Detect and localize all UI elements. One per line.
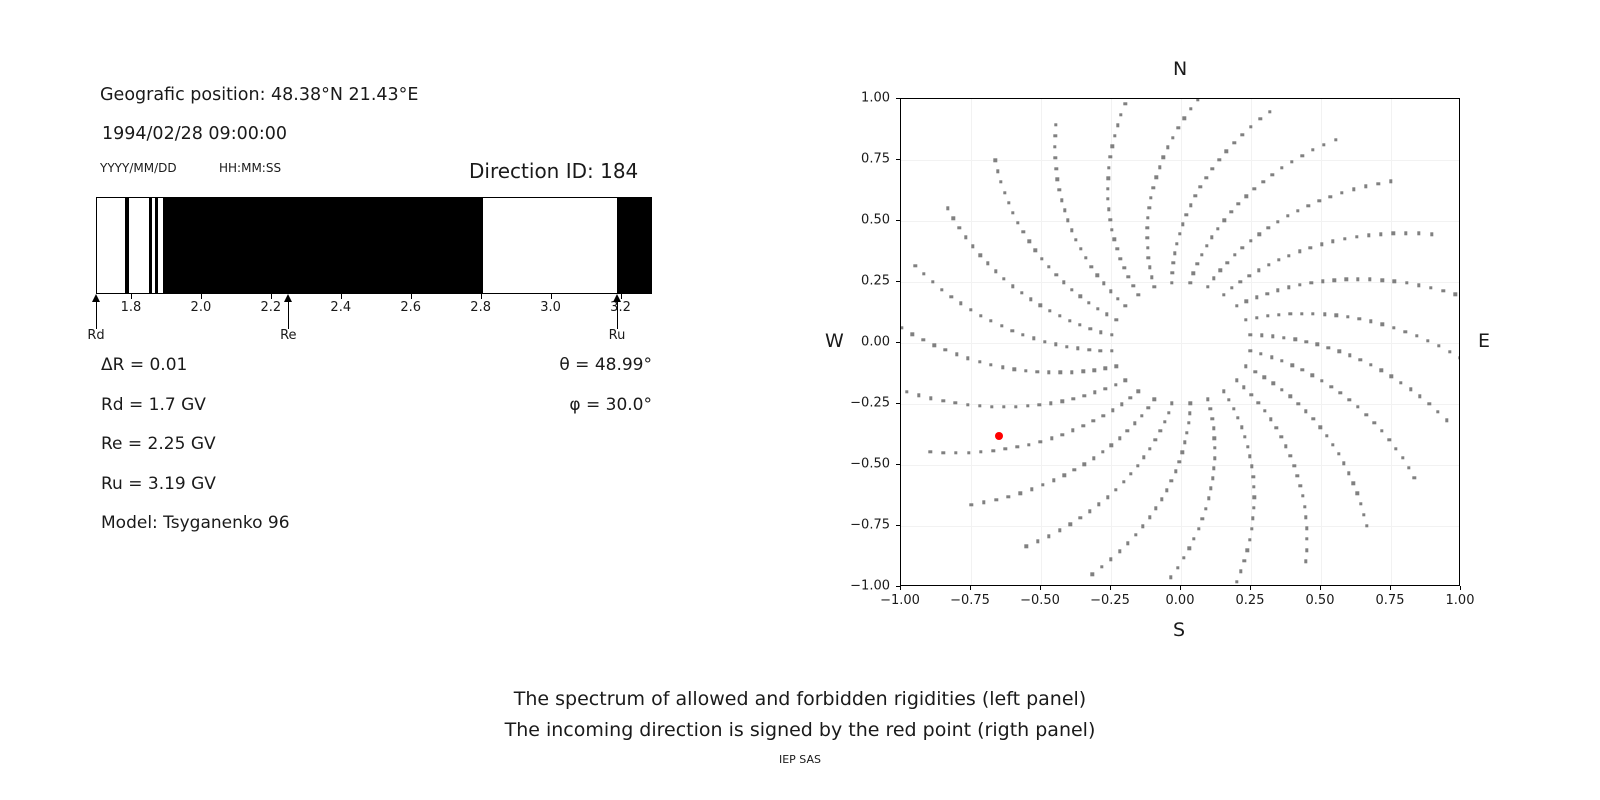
direction-grid-dot bbox=[1113, 238, 1116, 241]
direction-grid-dot bbox=[1058, 314, 1061, 317]
direction-grid-dot bbox=[1060, 399, 1063, 402]
direction-grid-dot bbox=[1177, 126, 1180, 129]
direction-grid-dot bbox=[1040, 257, 1043, 260]
direction-grid-dot bbox=[1348, 354, 1351, 357]
direction-grid-dot bbox=[1002, 277, 1005, 280]
direction-grid-dot bbox=[1318, 426, 1321, 429]
direction-grid-dot bbox=[955, 353, 958, 356]
arrow-shaft bbox=[288, 297, 289, 329]
direction-grid-dot bbox=[1154, 438, 1157, 441]
direction-grid-dot bbox=[1223, 219, 1226, 222]
direction-grid-dot bbox=[1362, 513, 1365, 516]
direction-grid-dot bbox=[1251, 517, 1254, 520]
direction-grid-dot bbox=[1140, 414, 1143, 417]
direction-grid-dot bbox=[1194, 194, 1197, 197]
direction-grid-dot bbox=[1404, 232, 1407, 235]
direction-grid-dot bbox=[1061, 433, 1064, 436]
direction-grid-dot bbox=[979, 314, 982, 317]
direction-grid-dot bbox=[1230, 286, 1233, 289]
direction-grid-dot bbox=[1188, 412, 1191, 415]
direction-grid-dot bbox=[1392, 326, 1395, 329]
y-axis-tick bbox=[896, 159, 900, 160]
spectrum-axis-tick-label: 2.2 bbox=[260, 300, 281, 315]
direction-grid-dot bbox=[1309, 246, 1312, 249]
direction-grid-dot bbox=[1241, 246, 1244, 249]
direction-grid-dot bbox=[1393, 280, 1396, 283]
direction-grid-dot bbox=[1249, 333, 1252, 336]
direction-grid-dot bbox=[1181, 223, 1184, 226]
direction-grid-dot bbox=[1089, 327, 1092, 330]
direction-grid-dot bbox=[1316, 343, 1319, 346]
direction-grid-dot bbox=[1090, 265, 1093, 268]
direction-grid-dot bbox=[1120, 403, 1123, 406]
direction-grid-dot bbox=[1116, 123, 1119, 126]
direction-grid-dot bbox=[1292, 464, 1295, 467]
parameter-row: Ru = 3.19 GV bbox=[101, 474, 216, 494]
direction-grid-dot bbox=[1054, 273, 1057, 276]
direction-grid-dot bbox=[1107, 166, 1110, 169]
direction-grid-dot bbox=[1265, 292, 1268, 295]
direction-grid-dot bbox=[1119, 257, 1122, 260]
direction-grid-dot bbox=[1239, 280, 1242, 283]
direction-grid-dot bbox=[1093, 368, 1096, 371]
direction-grid-dot bbox=[1107, 208, 1110, 211]
x-axis-tick bbox=[900, 586, 901, 590]
direction-grid-dot bbox=[1272, 382, 1275, 385]
direction-grid-dot bbox=[1083, 463, 1086, 466]
direction-grid-dot bbox=[1246, 445, 1249, 448]
x-axis-tick-label: 0.75 bbox=[1376, 593, 1405, 608]
direction-grid-dot bbox=[1054, 343, 1057, 346]
direction-grid-dot bbox=[1367, 234, 1370, 237]
compass-label-north: N bbox=[1173, 58, 1187, 80]
direction-grid-dot bbox=[1004, 447, 1007, 450]
direction-grid-dot bbox=[1417, 232, 1420, 235]
direction-grid-dot bbox=[1020, 291, 1023, 294]
direction-grid-dot bbox=[1252, 496, 1255, 499]
direction-grid-dot bbox=[1070, 370, 1073, 373]
spectrum-axis-tick-label: 3.2 bbox=[610, 300, 631, 315]
direction-grid-dot bbox=[1118, 550, 1121, 553]
direction-grid-dot bbox=[1137, 293, 1140, 296]
direction-grid-dot bbox=[1321, 280, 1324, 283]
incoming-direction-panel: N S W E −1.00−0.75−0.50−0.250.000.250.50… bbox=[800, 0, 1600, 660]
direction-grid-dot bbox=[1113, 134, 1116, 137]
direction-grid-dot bbox=[921, 338, 924, 341]
direction-grid-dot bbox=[1241, 133, 1244, 136]
direction-grid-dot bbox=[1259, 352, 1262, 355]
gridline-vertical bbox=[1251, 99, 1252, 585]
direction-grid-dot bbox=[1136, 464, 1139, 467]
direction-grid-dot bbox=[1242, 386, 1245, 389]
direction-grid-dot bbox=[1368, 278, 1371, 281]
direction-grid-dot bbox=[1305, 340, 1308, 343]
direction-grid-dot bbox=[1301, 368, 1304, 371]
direction-grid-dot bbox=[1052, 479, 1055, 482]
direction-grid-dot bbox=[1141, 525, 1144, 528]
direction-grid-dot bbox=[1050, 437, 1053, 440]
direction-grid-dot bbox=[1150, 275, 1153, 278]
direction-grid-dot bbox=[1167, 411, 1170, 414]
direction-grid-dot bbox=[914, 264, 917, 267]
direction-grid-dot bbox=[1284, 445, 1287, 448]
direction-grid-dot bbox=[994, 270, 997, 273]
direction-grid-dot bbox=[1160, 498, 1163, 501]
direction-grid-dot bbox=[1280, 435, 1283, 438]
x-axis-tick-label: −0.25 bbox=[1090, 593, 1130, 608]
direction-grid-dot bbox=[1084, 256, 1087, 259]
direction-grid-dot bbox=[1101, 414, 1104, 417]
direction-grid-dot bbox=[1358, 317, 1361, 320]
spectrum-axis-tick-label: 2.6 bbox=[400, 300, 421, 315]
gridline-horizontal bbox=[901, 282, 1459, 283]
y-axis-tick-label: −0.50 bbox=[838, 457, 890, 472]
direction-grid-dot bbox=[1212, 466, 1215, 469]
direction-grid-dot bbox=[989, 319, 992, 322]
direction-grid-dot bbox=[1110, 228, 1113, 231]
direction-grid-dot bbox=[1059, 371, 1062, 374]
direction-grid-dot bbox=[1034, 248, 1037, 251]
direction-grid-dot bbox=[1310, 281, 1313, 284]
direction-grid-dot bbox=[1261, 180, 1264, 183]
direction-grid-dot bbox=[1233, 253, 1236, 256]
direction-grid-dot bbox=[950, 295, 953, 298]
direction-grid-dot bbox=[1047, 265, 1050, 268]
spectrum-axis-tick bbox=[271, 294, 272, 299]
y-axis-tick-label: −0.25 bbox=[838, 396, 890, 411]
spectrum-bar bbox=[96, 197, 652, 294]
direction-grid-dot bbox=[1282, 336, 1285, 339]
direction-grid-dot bbox=[1205, 244, 1208, 247]
direction-grid-dot bbox=[1054, 167, 1057, 170]
direction-grid-dot bbox=[1079, 247, 1082, 250]
direction-grid-dot bbox=[1030, 488, 1033, 491]
direction-grid-dot bbox=[1027, 443, 1030, 446]
direction-grid-dot bbox=[1290, 160, 1293, 163]
direction-grid-dot bbox=[1126, 429, 1129, 432]
direction-grid-dot bbox=[1380, 429, 1383, 432]
direction-grid-dot bbox=[1106, 187, 1109, 190]
direction-grid-dot bbox=[1365, 413, 1368, 416]
direction-grid-dot bbox=[954, 451, 957, 454]
direction-grid-dot bbox=[1174, 470, 1177, 473]
direction-grid-dot bbox=[1235, 580, 1238, 583]
direction-grid-dot bbox=[1236, 416, 1239, 419]
direction-grid-dot bbox=[952, 217, 955, 220]
direction-grid-dot bbox=[1183, 117, 1186, 120]
direction-grid-dot bbox=[967, 451, 970, 454]
spectrum-axis-tick bbox=[481, 294, 482, 299]
direction-grid-dot bbox=[999, 180, 1002, 183]
y-axis-tick-label: 0.00 bbox=[838, 335, 890, 350]
direction-grid-dot bbox=[966, 403, 969, 406]
direction-grid-dot bbox=[1252, 485, 1255, 488]
direction-grid-dot bbox=[1258, 232, 1261, 235]
direction-grid-dot bbox=[1459, 356, 1460, 359]
direction-grid-dot bbox=[1048, 309, 1051, 312]
direction-grid-dot bbox=[1016, 445, 1019, 448]
direction-grid-dot bbox=[1047, 534, 1050, 537]
direction-grid-dot bbox=[1356, 278, 1359, 281]
direction-grid-dot bbox=[1343, 237, 1346, 240]
direction-grid-dot bbox=[996, 170, 999, 173]
footer-attribution: IEP SAS bbox=[0, 753, 1600, 766]
direction-grid-dot bbox=[1187, 421, 1190, 424]
direction-grid-dot bbox=[1280, 388, 1283, 391]
direction-grid-dot bbox=[1178, 460, 1181, 463]
direction-grid-dot bbox=[1300, 312, 1303, 315]
x-axis-tick bbox=[1180, 586, 1181, 590]
direction-grid-dot bbox=[1082, 394, 1085, 397]
direction-grid-dot bbox=[1000, 324, 1003, 327]
direction-grid-dot bbox=[1296, 209, 1299, 212]
direction-grid-dot bbox=[1322, 143, 1325, 146]
direction-grid-dot bbox=[1245, 195, 1248, 198]
direction-grid-dot bbox=[1146, 226, 1149, 229]
spectrum-axis-tick bbox=[341, 294, 342, 299]
direction-grid-dot bbox=[1149, 196, 1152, 199]
direction-grid-dot bbox=[1317, 199, 1320, 202]
spectrum-axis-tick-label: 1.8 bbox=[121, 300, 142, 315]
direction-grid-dot bbox=[1148, 516, 1151, 519]
direction-grid-dot bbox=[1165, 488, 1168, 491]
direction-grid-dot bbox=[1334, 138, 1337, 141]
x-axis-tick-label: 0.50 bbox=[1306, 593, 1335, 608]
direction-grid-dot bbox=[1114, 488, 1117, 491]
direction-grid-dot bbox=[1304, 516, 1307, 519]
direction-grid-dot bbox=[1277, 313, 1280, 316]
direction-grid-dot bbox=[1147, 256, 1150, 259]
direction-grid-dot bbox=[1024, 369, 1027, 372]
direction-grid-dot bbox=[1003, 191, 1006, 194]
direction-grid-dot bbox=[946, 207, 949, 210]
spectrum-x-axis: 1.82.02.22.42.62.83.03.2 bbox=[96, 294, 652, 308]
direction-grid-dot bbox=[1337, 452, 1340, 455]
rigidity-marker-label: Rd bbox=[87, 328, 104, 343]
gridline-vertical bbox=[1041, 99, 1042, 585]
direction-grid-dot bbox=[1106, 177, 1109, 180]
direction-grid-dot bbox=[1022, 230, 1025, 233]
direction-grid-dot bbox=[1249, 125, 1252, 128]
direction-grid-dot bbox=[1210, 236, 1213, 239]
direction-grid-dot bbox=[1248, 538, 1251, 541]
direction-grid-dot bbox=[1399, 381, 1402, 384]
direction-grid-dot bbox=[1239, 570, 1242, 573]
direction-grid-dot bbox=[1056, 178, 1059, 181]
direction-grid-dot bbox=[1331, 240, 1334, 243]
direction-grid-dot bbox=[1369, 320, 1372, 323]
direction-grid-dot bbox=[989, 363, 992, 366]
direction-grid-dot bbox=[1299, 484, 1302, 487]
y-axis-tick bbox=[896, 220, 900, 221]
direction-grid-dot bbox=[1259, 117, 1262, 120]
direction-grid-dot bbox=[1188, 281, 1191, 284]
rigidity-marker-label: Ru bbox=[609, 328, 626, 343]
direction-grid-dot bbox=[1158, 166, 1161, 169]
direction-grid-dot bbox=[1097, 503, 1100, 506]
direction-grid-dot bbox=[1105, 313, 1108, 316]
direction-grid-dot bbox=[1389, 180, 1392, 183]
direction-grid-dot bbox=[1063, 474, 1066, 477]
direction-grid-dot bbox=[1201, 517, 1204, 520]
direction-grid-dot bbox=[1106, 495, 1109, 498]
y-axis-tick bbox=[896, 281, 900, 282]
y-axis-tick-label: −0.75 bbox=[838, 518, 890, 533]
direction-grid-dot bbox=[1243, 559, 1246, 562]
caption-line-1: The spectrum of allowed and forbidden ri… bbox=[0, 684, 1600, 715]
direction-grid-dot bbox=[1060, 199, 1063, 202]
direction-grid-dot bbox=[1007, 495, 1010, 498]
direction-grid-dot bbox=[1110, 349, 1113, 352]
direction-grid-dot bbox=[1099, 349, 1102, 352]
direction-grid-dot bbox=[1154, 176, 1157, 179]
direction-grid-dot bbox=[1133, 422, 1136, 425]
direction-grid-dot bbox=[1110, 443, 1113, 446]
direction-grid-dot bbox=[1146, 406, 1149, 409]
direction-grid-dot bbox=[1330, 385, 1333, 388]
direction-grid-dot bbox=[1007, 201, 1010, 204]
direction-grid-dot bbox=[1287, 286, 1290, 289]
direction-grid-dot bbox=[978, 253, 981, 256]
direction-grid-dot bbox=[944, 348, 947, 351]
direction-grid-dot bbox=[1325, 434, 1328, 437]
x-axis-tick-label: 1.00 bbox=[1446, 593, 1475, 608]
direction-grid-dot bbox=[1199, 185, 1202, 188]
direction-grid-dot bbox=[1010, 329, 1013, 332]
direction-grid-dot bbox=[1213, 436, 1216, 439]
direction-grid-dot bbox=[1441, 289, 1444, 292]
x-axis-tick bbox=[1250, 586, 1251, 590]
direction-grid-dot bbox=[1043, 340, 1046, 343]
x-axis-tick bbox=[1390, 586, 1391, 590]
direction-grid-dot bbox=[1296, 474, 1299, 477]
direction-grid-dot bbox=[1407, 466, 1410, 469]
y-axis-tick bbox=[896, 464, 900, 465]
spectrum-axis-tick-label: 2.8 bbox=[470, 300, 491, 315]
direction-grid-dot bbox=[1355, 235, 1358, 238]
direction-grid-dot bbox=[1413, 476, 1416, 479]
direction-grid-dot bbox=[1115, 365, 1118, 368]
direction-grid-dot bbox=[1114, 383, 1117, 386]
rigidity-spectrum-panel: Geografic position: 48.38°N 21.43°E 1994… bbox=[0, 0, 800, 660]
polar-scatter-plot bbox=[900, 98, 1460, 586]
direction-grid-dot bbox=[1392, 232, 1395, 235]
direction-grid-dot bbox=[1271, 173, 1274, 176]
direction-grid-dot bbox=[1323, 313, 1326, 316]
direction-grid-dot bbox=[1229, 210, 1232, 213]
direction-grid-dot bbox=[958, 226, 961, 229]
direction-grid-dot bbox=[1071, 429, 1074, 432]
direction-grid-dot bbox=[1300, 154, 1303, 157]
direction-grid-dot bbox=[1036, 540, 1039, 543]
direction-grid-dot bbox=[1104, 387, 1107, 390]
direction-grid-dot bbox=[1100, 565, 1103, 568]
compass-label-east: E bbox=[1478, 330, 1490, 352]
direction-grid-dot bbox=[1181, 450, 1184, 453]
direction-grid-dot bbox=[1189, 203, 1192, 206]
direction-grid-dot bbox=[1110, 145, 1113, 148]
direction-grid-dot bbox=[1102, 282, 1105, 285]
direction-grid-dot bbox=[1225, 261, 1228, 264]
direction-grid-dot bbox=[1166, 146, 1169, 149]
direction-grid-dot bbox=[1380, 278, 1383, 281]
direction-grid-dot bbox=[1185, 431, 1188, 434]
direction-grid-dot bbox=[995, 498, 998, 501]
spectrum-axis-tick bbox=[411, 294, 412, 299]
direction-grid-dot bbox=[1346, 315, 1349, 318]
spectrum-axis-tick-label: 2.0 bbox=[191, 300, 212, 315]
direction-grid-dot bbox=[1171, 136, 1174, 139]
direction-grid-dot bbox=[1054, 156, 1057, 159]
direction-grid-dot bbox=[1276, 220, 1279, 223]
direction-grid-dot bbox=[1252, 506, 1255, 509]
direction-grid-dot bbox=[1070, 288, 1073, 291]
direction-grid-dot bbox=[1171, 271, 1174, 274]
direction-grid-dot bbox=[1142, 456, 1145, 459]
direction-grid-dot bbox=[1288, 395, 1291, 398]
direction-grid-dot bbox=[1154, 507, 1157, 510]
direction-grid-dot bbox=[1268, 110, 1271, 113]
direction-grid-dot bbox=[1206, 398, 1209, 401]
direction-grid-dot bbox=[1245, 300, 1248, 303]
direction-grid-dot bbox=[1032, 337, 1035, 340]
direction-grid-dot bbox=[990, 405, 993, 408]
direction-grid-dot bbox=[1058, 188, 1061, 191]
direction-grid-dot bbox=[1365, 524, 1368, 527]
direction-grid-dot bbox=[1266, 314, 1269, 317]
direction-grid-dot bbox=[1092, 456, 1095, 459]
direction-grid-dot bbox=[1405, 281, 1408, 284]
direction-grid-dot bbox=[917, 393, 920, 396]
direction-grid-dot bbox=[1172, 261, 1175, 264]
direction-grid-dot bbox=[1126, 541, 1129, 544]
direction-grid-dot bbox=[1454, 293, 1457, 296]
direction-grid-dot bbox=[1303, 505, 1306, 508]
direction-grid-dot bbox=[1260, 334, 1263, 337]
direction-grid-dot bbox=[1212, 427, 1215, 430]
direction-grid-dot bbox=[1286, 214, 1289, 217]
direction-grid-dot bbox=[1373, 421, 1376, 424]
x-axis-tick bbox=[1110, 586, 1111, 590]
direction-grid-dot bbox=[1185, 213, 1188, 216]
direction-grid-dot bbox=[1352, 481, 1355, 484]
gridline-vertical bbox=[1111, 99, 1112, 585]
direction-grid-dot bbox=[1036, 370, 1039, 373]
direction-grid-dot bbox=[1108, 218, 1111, 221]
direction-grid-dot bbox=[1162, 585, 1165, 586]
y-axis-tick-label: 0.75 bbox=[838, 152, 890, 167]
direction-grid-dot bbox=[1232, 141, 1235, 144]
direction-grid-dot bbox=[969, 308, 972, 311]
direction-grid-dot bbox=[1356, 492, 1359, 495]
direction-grid-dot bbox=[1132, 284, 1135, 287]
direction-grid-dot bbox=[1417, 283, 1420, 286]
gridline-horizontal bbox=[901, 526, 1459, 527]
direction-grid-dot bbox=[1344, 278, 1347, 281]
direction-grid-dot bbox=[1253, 187, 1256, 190]
direction-grid-dot bbox=[1210, 417, 1213, 420]
direction-grid-dot bbox=[1381, 323, 1384, 326]
direction-grid-dot bbox=[1337, 350, 1340, 353]
direction-grid-dot bbox=[1116, 297, 1119, 300]
direction-grid-dot bbox=[1068, 319, 1071, 322]
x-axis-tick bbox=[1460, 586, 1461, 590]
direction-grid-dot bbox=[1250, 465, 1253, 468]
direction-grid-dot bbox=[1301, 494, 1304, 497]
direction-grid-dot bbox=[1209, 407, 1212, 410]
direction-grid-dot bbox=[1187, 547, 1190, 550]
direction-grid-dot bbox=[1099, 330, 1102, 333]
